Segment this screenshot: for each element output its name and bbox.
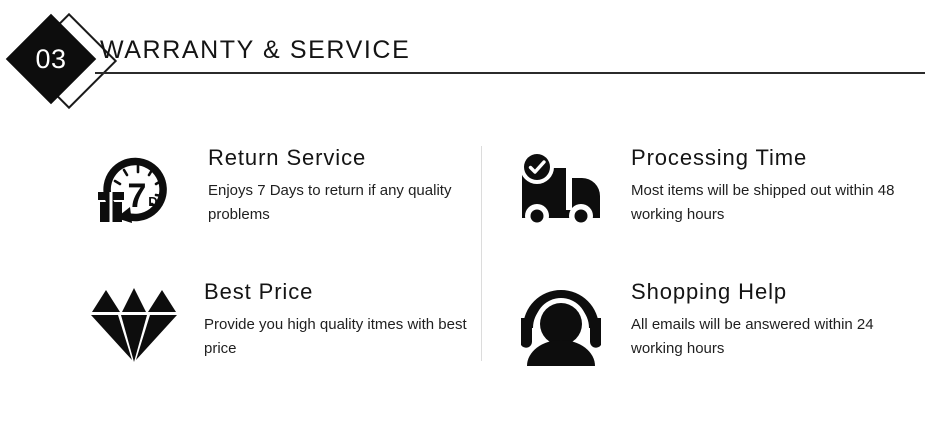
- svg-text:7: 7: [128, 177, 147, 215]
- feature-item-processing-time: Processing Time Most items will be shipp…: [513, 144, 896, 236]
- feature-description: Enjoys 7 Days to return if any quality p…: [208, 179, 473, 227]
- header-divider-rule: [95, 72, 925, 74]
- feature-description: Provide you high quality itmes with best…: [204, 313, 469, 361]
- features-grid: 7 D Return Service Enjoys 7 Days to: [0, 130, 950, 380]
- feature-text-block: Return Service Enjoys 7 Days to return i…: [186, 144, 473, 227]
- feature-description: All emails will be answered within 24 wo…: [631, 313, 896, 361]
- diamond-gem-icon: [86, 278, 182, 370]
- feature-title: Shopping Help: [631, 280, 896, 304]
- feature-title: Processing Time: [631, 146, 896, 170]
- feature-text-block: Shopping Help All emails will be answere…: [609, 278, 896, 361]
- return-7-days-icon: 7 D: [90, 144, 186, 236]
- feature-item-shopping-help: Shopping Help All emails will be answere…: [513, 278, 896, 370]
- feature-description: Most items will be shipped out within 48…: [631, 179, 896, 227]
- feature-title: Return Service: [208, 146, 473, 170]
- page-title: WARRANTY & SERVICE: [100, 36, 410, 65]
- feature-item-return-service: 7 D Return Service Enjoys 7 Days to: [90, 144, 473, 236]
- svg-text:D: D: [148, 194, 157, 209]
- badge-number-label: 03: [19, 27, 83, 91]
- delivery-truck-check-icon: [513, 144, 609, 236]
- feature-title: Best Price: [204, 280, 469, 304]
- warranty-service-banner: 03 WARRANTY & SERVICE: [0, 0, 950, 428]
- feature-text-block: Processing Time Most items will be shipp…: [609, 144, 896, 227]
- section-header: 03 WARRANTY & SERVICE: [0, 0, 950, 125]
- headset-support-icon: [513, 278, 609, 370]
- feature-item-best-price: Best Price Provide you high quality itme…: [86, 278, 469, 370]
- feature-text-block: Best Price Provide you high quality itme…: [182, 278, 469, 361]
- column-divider: [481, 146, 482, 361]
